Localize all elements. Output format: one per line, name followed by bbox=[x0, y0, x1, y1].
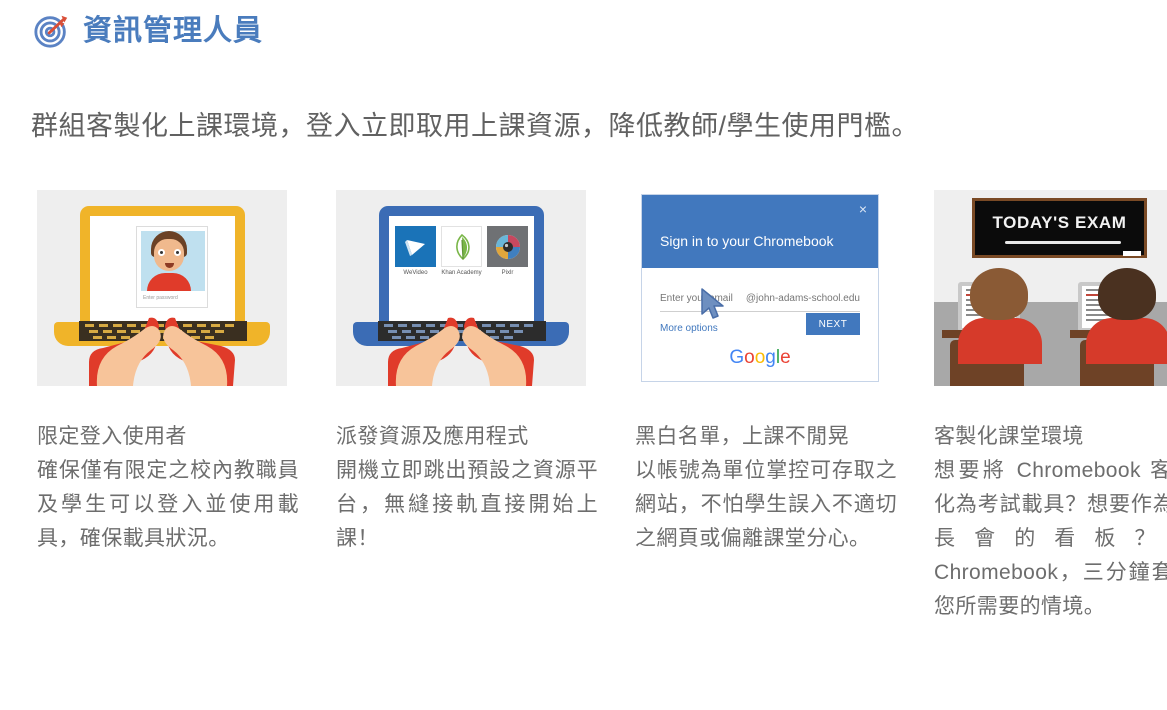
feature-text-3: 黑白名單，上課不閒晃 以帳號為單位掌控可存取之網站，不怕學生誤入不適切之網頁或偏… bbox=[635, 420, 897, 556]
feature-body-2: 開機立即跳出預設之資源平台，無縫接軌直接開始上課！ bbox=[336, 454, 598, 556]
student-head-left bbox=[970, 268, 1028, 320]
dialog-header: × Sign in to your Chromebook bbox=[642, 195, 878, 268]
feature-body-1: 確保僅有限定之校內教職員及學生可以登入並使用載具，確保載具狀況。 bbox=[37, 454, 299, 556]
feature-heading-4: 客製化課堂環境 bbox=[934, 420, 1167, 454]
google-letter-e: e bbox=[780, 347, 791, 368]
target-dart-icon bbox=[33, 12, 71, 50]
student-body-left bbox=[958, 318, 1042, 364]
blackboard-underline bbox=[1005, 241, 1121, 244]
feature-text-1: 限定登入使用者 確保僅有限定之校內教職員及學生可以登入並使用載具，確保載具狀況。 bbox=[37, 420, 299, 556]
yellow-laptop-login-illustration: Enter password bbox=[37, 190, 287, 386]
feature-heading-3: 黑白名單，上課不閒晃 bbox=[635, 420, 897, 454]
feature-heading-2: 派發資源及應用程式 bbox=[336, 420, 598, 454]
google-logo: Google bbox=[642, 347, 878, 369]
student-head-right bbox=[1098, 268, 1156, 320]
email-field[interactable]: Enter your email @john-adams-school.edu bbox=[660, 292, 860, 312]
google-letter-o2: o bbox=[755, 347, 766, 368]
feature-column-1: Enter password bbox=[37, 190, 299, 624]
feature-body-4: 想要將 Chromebook 客製化為考試載具？想要作為家長會的看板？靠 Chr… bbox=[934, 454, 1167, 624]
close-icon[interactable]: × bbox=[859, 201, 867, 217]
mouse-cursor-icon bbox=[700, 287, 730, 323]
feature-text-4: 客製化課堂環境 想要將 Chromebook 客製化為考試載具？想要作為家長會的… bbox=[934, 420, 1167, 624]
feature-column-2: WeVideo Khan Academy bbox=[336, 190, 598, 624]
typing-hands-illustration bbox=[336, 190, 586, 386]
feature-heading-1: 限定登入使用者 bbox=[37, 420, 299, 454]
more-options-link[interactable]: More options bbox=[660, 323, 718, 334]
feature-column-3: × Sign in to your Chromebook Enter your … bbox=[635, 190, 897, 624]
blackboard: TODAY'S EXAM bbox=[972, 198, 1147, 258]
blackboard-text: TODAY'S EXAM bbox=[975, 213, 1144, 233]
feature-column-4: TODAY'S EXAM bbox=[934, 190, 1167, 624]
dialog-title: Sign in to your Chromebook bbox=[660, 233, 834, 249]
feature-columns: Enter password bbox=[0, 190, 1167, 624]
page-subtitle: 群組客製化上課環境，登入立即取用上課資源，降低教師/學生使用門檻。 bbox=[31, 108, 919, 144]
google-letter-o1: o bbox=[744, 347, 755, 368]
next-button[interactable]: NEXT bbox=[806, 313, 860, 335]
page-heading: 資訊管理人員 bbox=[33, 12, 263, 50]
classroom-exam-illustration: TODAY'S EXAM bbox=[934, 190, 1167, 386]
typing-hands-illustration bbox=[37, 190, 287, 386]
google-letter-g2: g bbox=[765, 347, 776, 368]
feature-body-3: 以帳號為單位掌控可存取之網站，不怕學生誤入不適切之網頁或偏離課堂分心。 bbox=[635, 454, 897, 556]
email-domain-suffix: @john-adams-school.edu bbox=[746, 293, 860, 304]
signin-dialog: × Sign in to your Chromebook Enter your … bbox=[641, 194, 879, 382]
feature-text-2: 派發資源及應用程式 開機立即跳出預設之資源平台，無縫接軌直接開始上課！ bbox=[336, 420, 598, 556]
chromebook-signin-illustration: × Sign in to your Chromebook Enter your … bbox=[635, 190, 885, 386]
slide-root: 資訊管理人員 群組客製化上課環境，登入立即取用上課資源，降低教師/學生使用門檻。 bbox=[0, 0, 1167, 710]
chalk-eraser-icon bbox=[1123, 251, 1141, 256]
page-title: 資訊管理人員 bbox=[83, 17, 263, 46]
google-letter-g1: G bbox=[729, 347, 744, 368]
student-body-right bbox=[1086, 318, 1167, 364]
blue-laptop-apps-illustration: WeVideo Khan Academy bbox=[336, 190, 586, 386]
